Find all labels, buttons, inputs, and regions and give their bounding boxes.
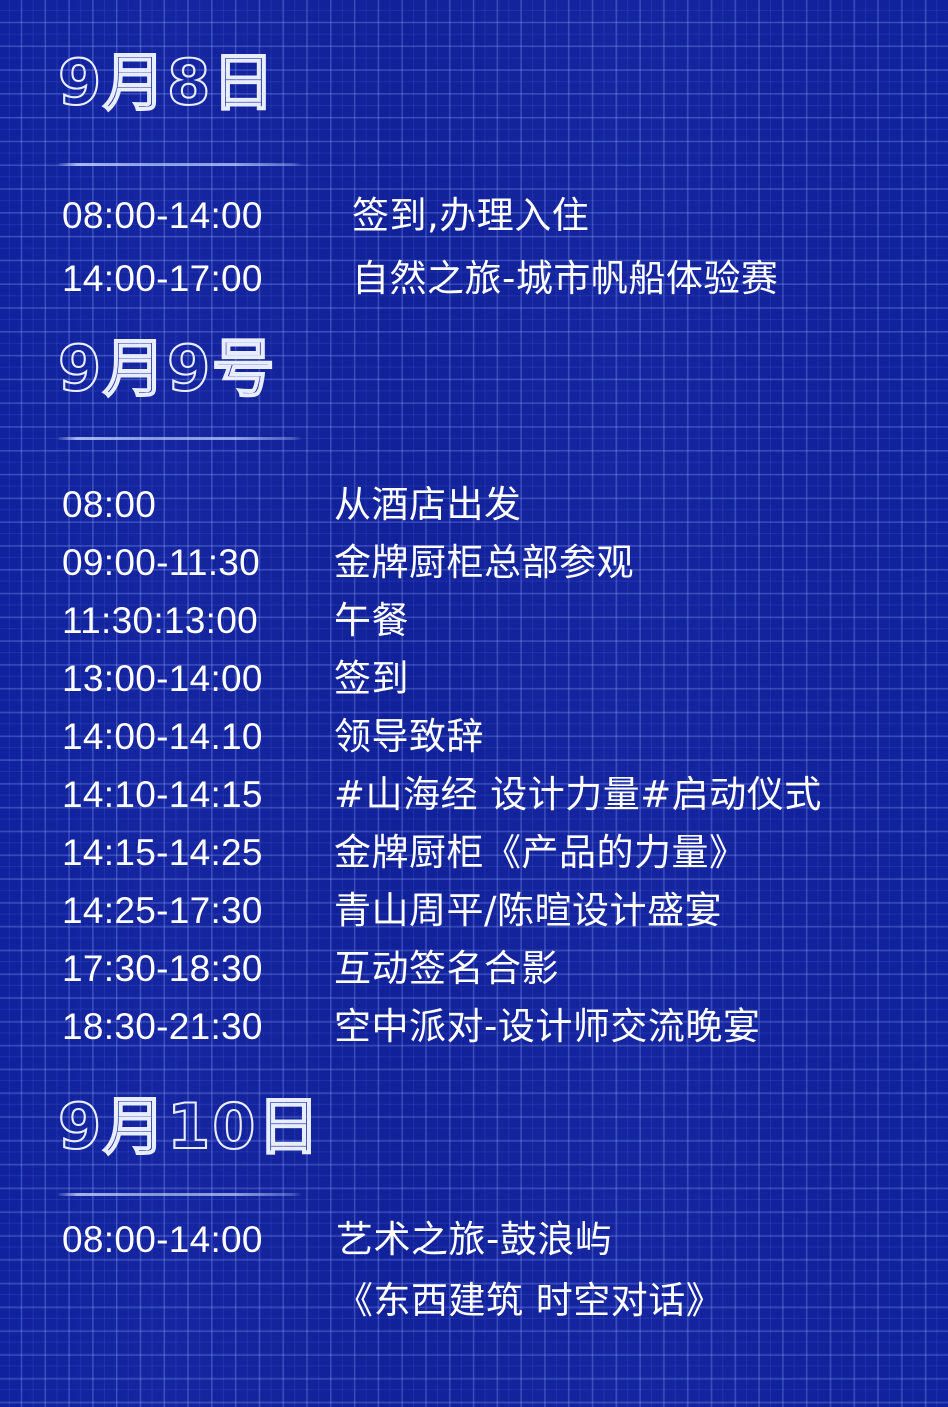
schedule-row: 09:00-11:30 金牌厨柜总部参观 bbox=[0, 538, 948, 588]
schedule-row: 17:30-18:30 互动签名合影 bbox=[0, 944, 948, 994]
schedule-row: 08:00-14:00 艺术之旅-鼓浪屿 bbox=[0, 1215, 948, 1265]
row-time: 11:30:13:00 bbox=[62, 596, 258, 646]
row-description: 空中派对-设计师交流晚宴 bbox=[334, 1002, 760, 1052]
row-description: 领导致辞 bbox=[334, 712, 484, 762]
row-description: 金牌厨柜总部参观 bbox=[334, 538, 634, 588]
schedule-poster: 9月8日 08:00-14:00 签到,办理入住 14:00-17:00 自然之… bbox=[0, 0, 948, 1407]
day-divider-2 bbox=[58, 437, 302, 440]
row-description: 自然之旅-城市帆船体验赛 bbox=[352, 254, 778, 304]
row-time: 09:00-11:30 bbox=[62, 538, 260, 588]
schedule-row: 14:00-14.10 领导致辞 bbox=[0, 712, 948, 762]
day-heading-1: 9月8日 bbox=[58, 52, 276, 114]
row-description: 签到 bbox=[334, 654, 409, 704]
day-heading-2: 9月9号 bbox=[58, 338, 276, 400]
row-time: 14:00-14.10 bbox=[62, 712, 263, 762]
schedule-row: 08:00-14:00 签到,办理入住 bbox=[0, 191, 948, 241]
day-divider-3 bbox=[58, 1193, 302, 1196]
row-time: 13:00-14:00 bbox=[62, 654, 263, 704]
row-description: 互动签名合影 bbox=[334, 944, 559, 994]
row-description: 从酒店出发 bbox=[334, 480, 522, 530]
row-time: 14:10-14:15 bbox=[62, 770, 263, 820]
schedule-row: 14:10-14:15 #山海经 设计力量#启动仪式 bbox=[0, 770, 948, 820]
row-description: 《东西建筑 时空对话》 bbox=[336, 1276, 723, 1326]
row-time: 18:30-21:30 bbox=[62, 1002, 263, 1052]
row-time: 14:25-17:30 bbox=[62, 886, 263, 936]
schedule-row: 08:00 从酒店出发 bbox=[0, 480, 948, 530]
row-description: 金牌厨柜《产品的力量》 bbox=[334, 828, 747, 878]
schedule-row: 14:25-17:30 青山周平/陈暄设计盛宴 bbox=[0, 886, 948, 936]
row-time: 17:30-18:30 bbox=[62, 944, 263, 994]
row-time: 08:00-14:00 bbox=[62, 191, 263, 241]
row-time: 14:15-14:25 bbox=[62, 828, 263, 878]
schedule-row: 14:15-14:25 金牌厨柜《产品的力量》 bbox=[0, 828, 948, 878]
day-heading-3: 9月10日 bbox=[58, 1096, 321, 1158]
schedule-row: 14:00-17:00 自然之旅-城市帆船体验赛 bbox=[0, 254, 948, 304]
row-description: #山海经 设计力量#启动仪式 bbox=[334, 770, 822, 820]
schedule-row: 11:30:13:00 午餐 bbox=[0, 596, 948, 646]
row-time: 14:00-17:00 bbox=[62, 254, 263, 304]
row-time: 08:00-14:00 bbox=[62, 1215, 263, 1265]
row-description: 青山周平/陈暄设计盛宴 bbox=[334, 886, 722, 936]
schedule-row: 18:30-21:30 空中派对-设计师交流晚宴 bbox=[0, 1002, 948, 1052]
day-divider-1 bbox=[58, 163, 302, 166]
row-description: 艺术之旅-鼓浪屿 bbox=[336, 1215, 612, 1265]
schedule-row-continuation: 《东西建筑 时空对话》 bbox=[0, 1276, 948, 1326]
schedule-content: 9月8日 08:00-14:00 签到,办理入住 14:00-17:00 自然之… bbox=[0, 0, 948, 1407]
row-description: 午餐 bbox=[334, 596, 409, 646]
schedule-row: 13:00-14:00 签到 bbox=[0, 654, 948, 704]
row-time: 08:00 bbox=[62, 480, 156, 530]
row-description: 签到,办理入住 bbox=[352, 191, 589, 241]
